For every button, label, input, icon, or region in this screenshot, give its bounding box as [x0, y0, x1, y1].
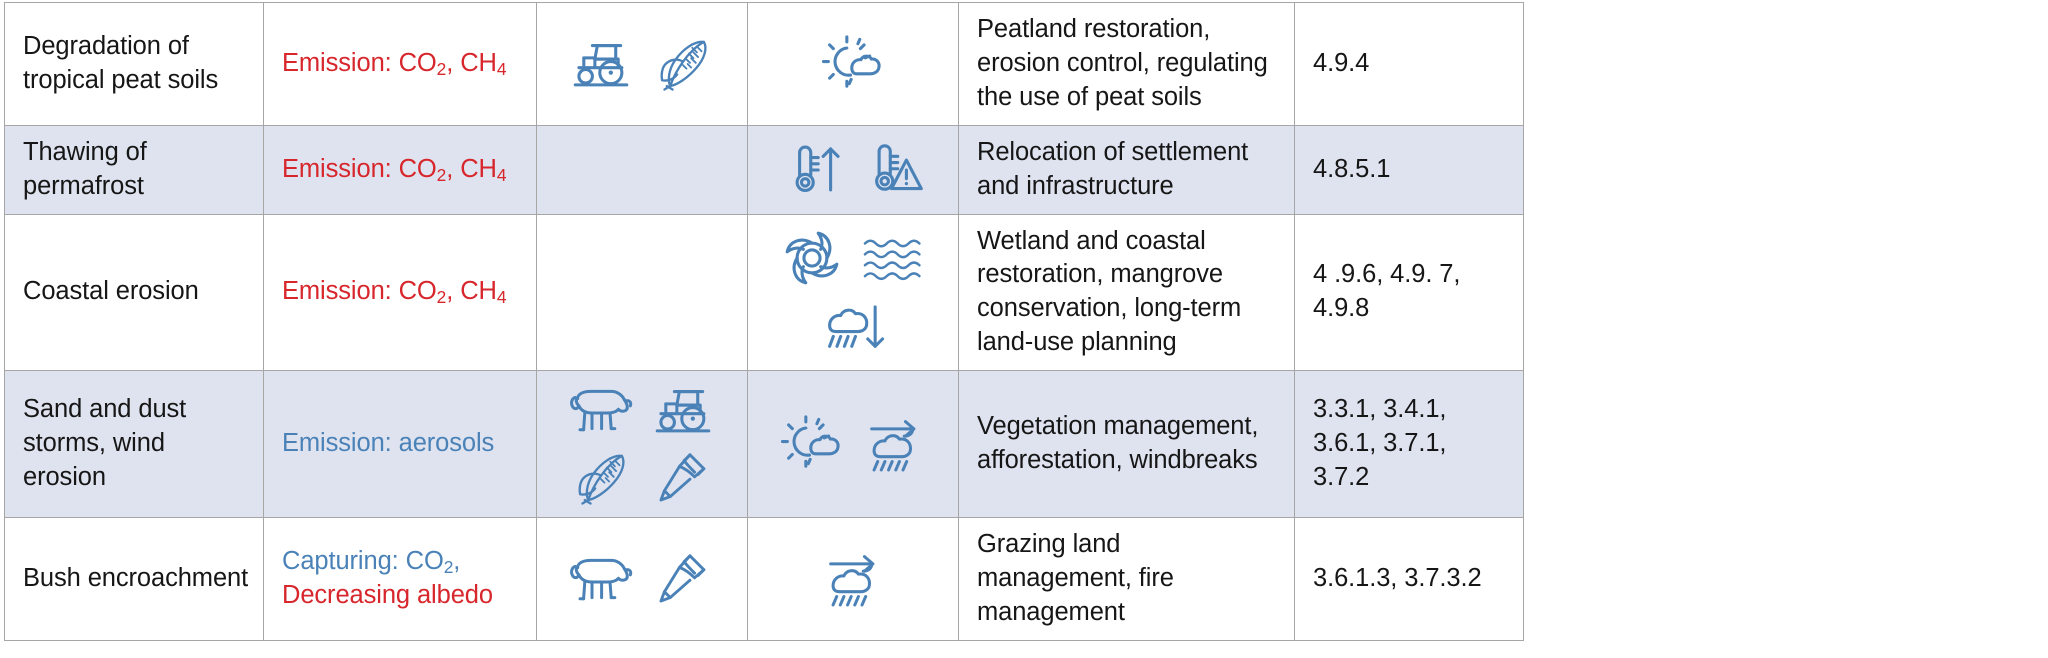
climate-cell — [748, 518, 959, 641]
icon-group — [748, 131, 958, 209]
climate-cell — [748, 3, 959, 126]
rain-cloud-down-arrow-icon — [817, 295, 889, 357]
climate-cell — [748, 214, 959, 371]
section-cell: 3.3.1, 3.4.1, 3.6.1, 3.7.1, 3.7.2 — [1295, 383, 1523, 505]
emission-text: Emission: CO2, CH4 — [264, 37, 536, 91]
hurricane-icon — [776, 227, 848, 289]
risk-table-page: Degradation of tropical peat soilsEmissi… — [0, 0, 2048, 658]
section-cell: 4.9.4 — [1295, 37, 1523, 91]
emission-text: Capturing: CO2,Decreasing albedo — [264, 535, 536, 623]
hazard-cell: Degradation of tropical peat soils — [5, 20, 263, 108]
response-cell: Wetland and coastal restoration, mangrov… — [959, 215, 1294, 371]
thermometer-up-icon — [776, 139, 848, 201]
drivers-cell — [537, 371, 748, 518]
response-cell: Relocation of settlement and infrastruct… — [959, 126, 1294, 214]
emission-text: Emission: CO2, CH4 — [264, 265, 536, 319]
icon-group — [748, 219, 958, 365]
empty-icon-cell — [537, 140, 747, 200]
hazard-cell: Bush encroachment — [5, 552, 263, 606]
emission-text: Emission: aerosols — [264, 417, 536, 471]
icon-group — [537, 540, 747, 618]
section-cell: 4 .9.6, 4.9. 7, 4.9.8 — [1295, 248, 1523, 336]
hazard-cell: Thawing of permafrost — [5, 126, 263, 214]
icon-group — [537, 25, 747, 103]
cow-icon — [565, 548, 637, 610]
emission-line: Emission: CO2, CH4 — [282, 153, 522, 187]
emission-text: Emission: CO2, CH4 — [264, 143, 536, 197]
hazard-cell: Coastal erosion — [5, 265, 263, 319]
drivers-cell — [537, 518, 748, 641]
icon-group — [537, 371, 747, 517]
hazard-cell: Sand and dust storms, wind erosion — [5, 383, 263, 505]
cow-icon — [565, 379, 637, 441]
table-row: Sand and dust storms, wind erosionEmissi… — [5, 371, 1524, 518]
table-row: Thawing of permafrostEmission: CO2, CH4 — [5, 125, 1524, 214]
sun-cloud-icon — [817, 33, 889, 95]
emission-line: Emission: CO2, CH4 — [282, 47, 522, 81]
emission-line: Emission: CO2, CH4 — [282, 275, 522, 309]
section-cell: 4.8.5.1 — [1295, 143, 1523, 197]
sun-cloud-icon — [776, 413, 848, 475]
emission-line: Capturing: CO2, — [282, 545, 522, 579]
wind-rain-cloud-icon — [817, 548, 889, 610]
response-cell: Grazing land management, fire management — [959, 518, 1294, 640]
climate-risk-table: Degradation of tropical peat soilsEmissi… — [4, 2, 1524, 641]
table-body: Degradation of tropical peat soilsEmissi… — [5, 3, 1524, 641]
tractor-icon — [565, 33, 637, 95]
axe-icon — [647, 447, 719, 509]
climate-cell — [748, 371, 959, 518]
table-row: Bush encroachmentCapturing: CO2,Decreasi… — [5, 518, 1524, 641]
thermometer-warning-icon — [858, 139, 930, 201]
wind-rain-cloud-icon — [858, 413, 930, 475]
drivers-cell — [537, 214, 748, 371]
drivers-cell — [537, 125, 748, 214]
table-row: Degradation of tropical peat soilsEmissi… — [5, 3, 1524, 126]
emission-line: Decreasing albedo — [282, 579, 522, 613]
corn-icon — [647, 33, 719, 95]
empty-icon-cell — [537, 262, 747, 322]
icon-group — [748, 540, 958, 618]
axe-icon — [647, 548, 719, 610]
waves-icon — [858, 227, 930, 289]
table-row: Coastal erosionEmission: CO2, CH4 — [5, 214, 1524, 371]
response-cell: Peatland restoration, erosion control, r… — [959, 3, 1294, 125]
drivers-cell — [537, 3, 748, 126]
climate-cell — [748, 125, 959, 214]
response-cell: Vegetation management, afforestation, wi… — [959, 400, 1294, 488]
emission-line: Emission: aerosols — [282, 427, 522, 461]
corn-icon — [565, 447, 637, 509]
section-cell: 3.6.1.3, 3.7.3.2 — [1295, 552, 1523, 606]
icon-group — [748, 25, 958, 103]
icon-group — [748, 405, 958, 483]
tractor-icon — [647, 379, 719, 441]
